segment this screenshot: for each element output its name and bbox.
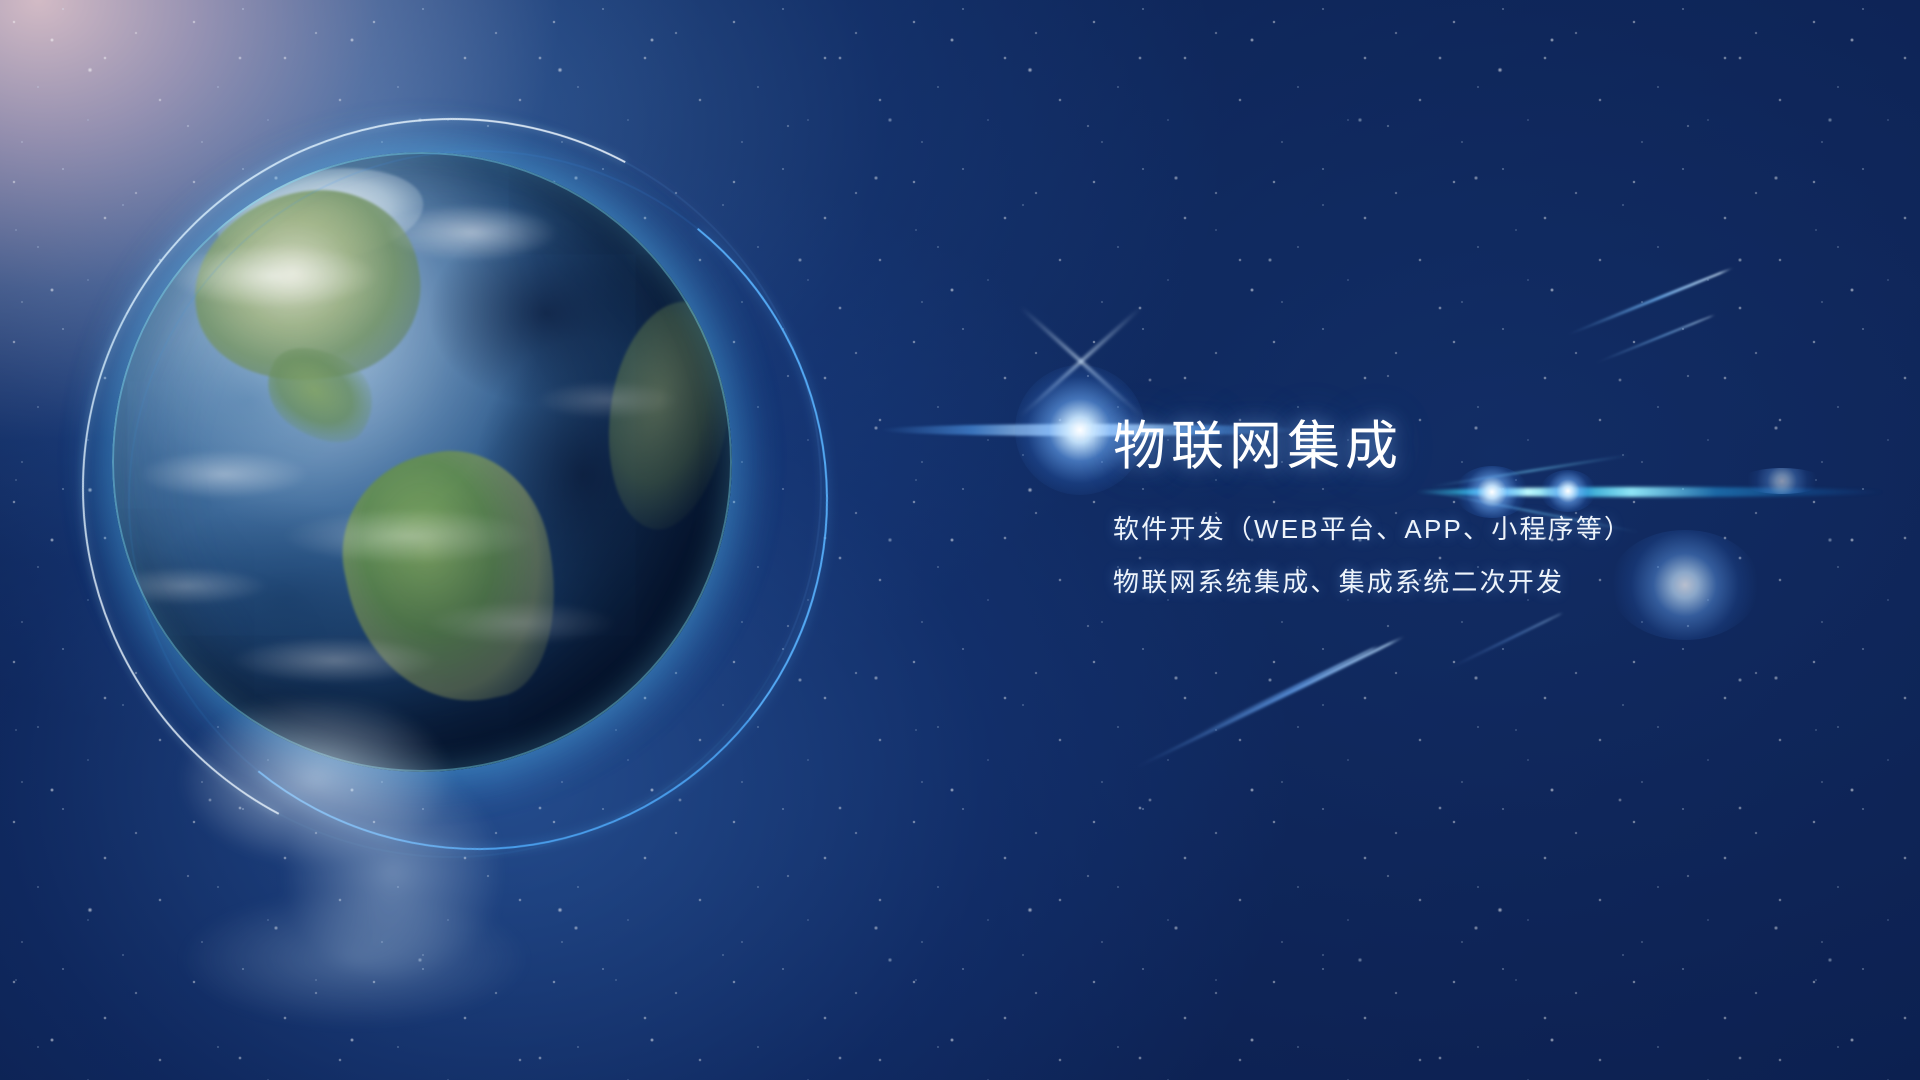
meteor-streak-2: [1594, 314, 1715, 365]
meteor-streak-4: [1190, 644, 1380, 739]
banner-subtitle-line-2: 物联网系统集成、集成系统二次开发: [1113, 562, 1753, 599]
page-title: 物联网集成: [1113, 418, 1753, 476]
banner-subtitle-line-1: 软件开发（WEB平台、APP、小程序等）: [1113, 509, 1753, 546]
meteor-streak-5: [1446, 612, 1564, 671]
hero-banner: 物联网集成 软件开发（WEB平台、APP、小程序等） 物联网系统集成、集成系统二…: [0, 0, 1920, 1080]
meteor-streak-3: [1134, 634, 1405, 769]
meteor-streak-1: [1566, 266, 1734, 336]
banner-copy: 物联网集成 软件开发（WEB平台、APP、小程序等） 物联网系统集成、集成系统二…: [1113, 418, 1753, 599]
